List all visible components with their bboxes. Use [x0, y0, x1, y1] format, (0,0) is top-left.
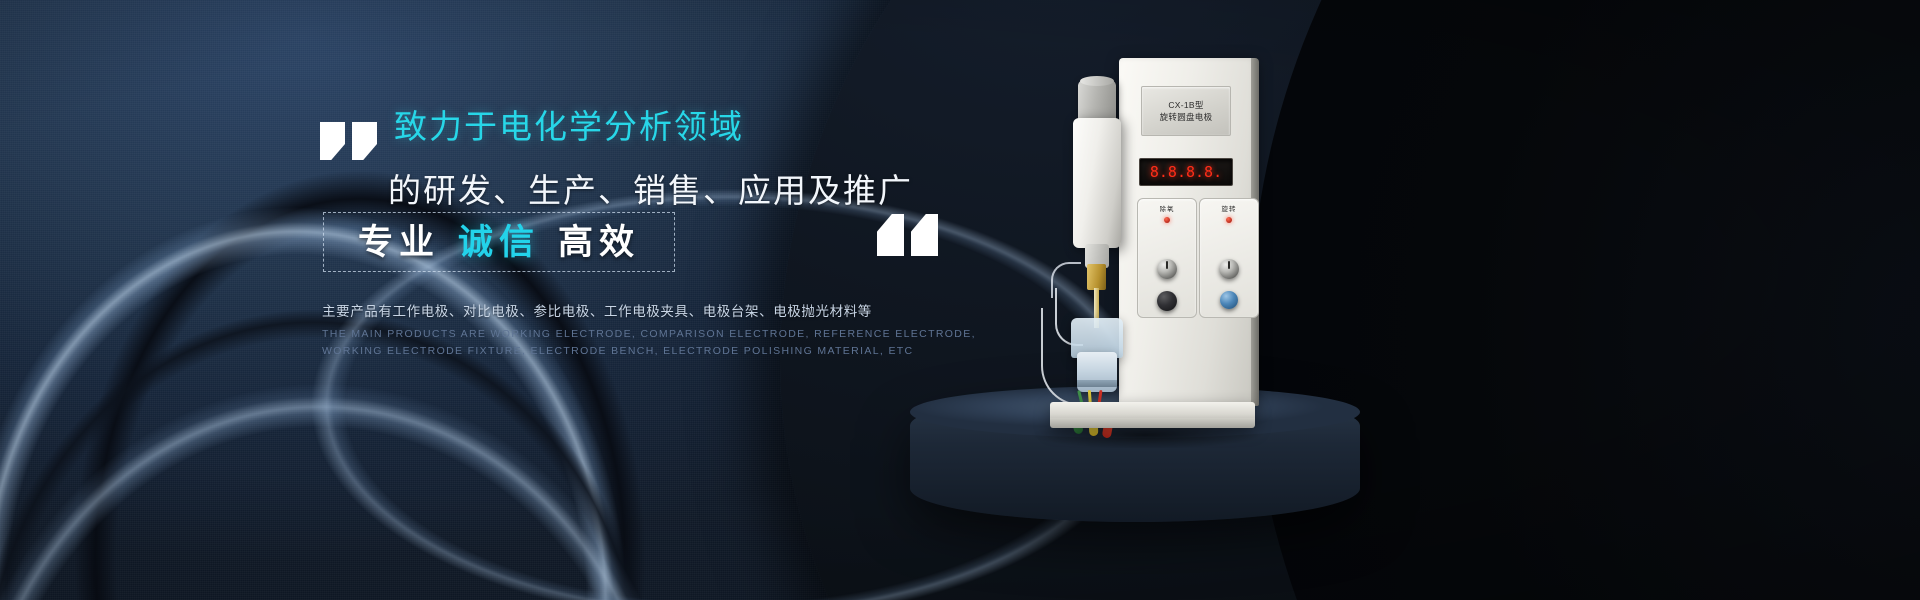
device-nameplate: CX-1B型 旋转圆盘电极	[1141, 86, 1231, 136]
control-label-1: 除氧	[1138, 203, 1196, 213]
rotor-body	[1073, 118, 1121, 248]
control-knob-2[interactable]	[1219, 259, 1239, 279]
slogan-word-1: 专业	[349, 225, 449, 260]
hero-banner: 致力于电化学分析领域 的研发、生产、销售、应用及推广 专业 诚信 高效 主要产品…	[0, 0, 1920, 600]
electrolysis-cell-band	[1077, 380, 1117, 387]
control-knob-dark[interactable]	[1157, 291, 1177, 311]
control-group-deoxygenation[interactable]: 除氧	[1137, 198, 1197, 318]
headline-primary: 致力于电化学分析领域	[394, 110, 744, 143]
product-device: CX-1B型 旋转圆盘电极 8.8.8.8. 除氧 旋转	[1015, 50, 1275, 450]
slogan-word-3: 高效	[549, 225, 649, 260]
display-digits: 8.8.8.8.	[1150, 165, 1222, 180]
slogan-box: 专业 诚信 高效	[323, 212, 675, 272]
indicator-led-1	[1164, 217, 1170, 223]
subtitle-english-line-2: WORKING ELECTRODE FIXTURE, ELECTRODE BEN…	[322, 345, 914, 357]
subtitle-chinese: 主要产品有工作电极、对比电极、参比电极、工作电极夹具、电极台架、电极抛光材料等	[322, 300, 872, 320]
rotor-chuck	[1087, 264, 1106, 290]
headline-row: 致力于电化学分析领域	[320, 110, 744, 162]
nameplate-name: 旋转圆盘电极	[1160, 113, 1213, 122]
control-label-2: 旋转	[1200, 203, 1258, 213]
nameplate-model: CX-1B型	[1168, 101, 1203, 110]
control-knob-blue[interactable]	[1220, 291, 1238, 309]
subtitle-english-line-1: THE MAIN PRODUCTS ARE WORKING ELECTRODE,…	[322, 328, 976, 340]
indicator-led-2	[1226, 217, 1232, 223]
quote-open-icon	[320, 122, 378, 162]
control-group-rotation[interactable]: 旋转	[1199, 198, 1259, 318]
background-vignette	[0, 0, 1920, 600]
control-knob-1[interactable]	[1157, 259, 1177, 279]
slogan-word-2: 诚信	[449, 225, 549, 260]
quote-close-icon	[876, 212, 938, 256]
headline-secondary: 的研发、生产、销售、应用及推广	[388, 174, 913, 207]
device-display: 8.8.8.8.	[1139, 158, 1233, 186]
device-base-front	[1050, 418, 1255, 428]
